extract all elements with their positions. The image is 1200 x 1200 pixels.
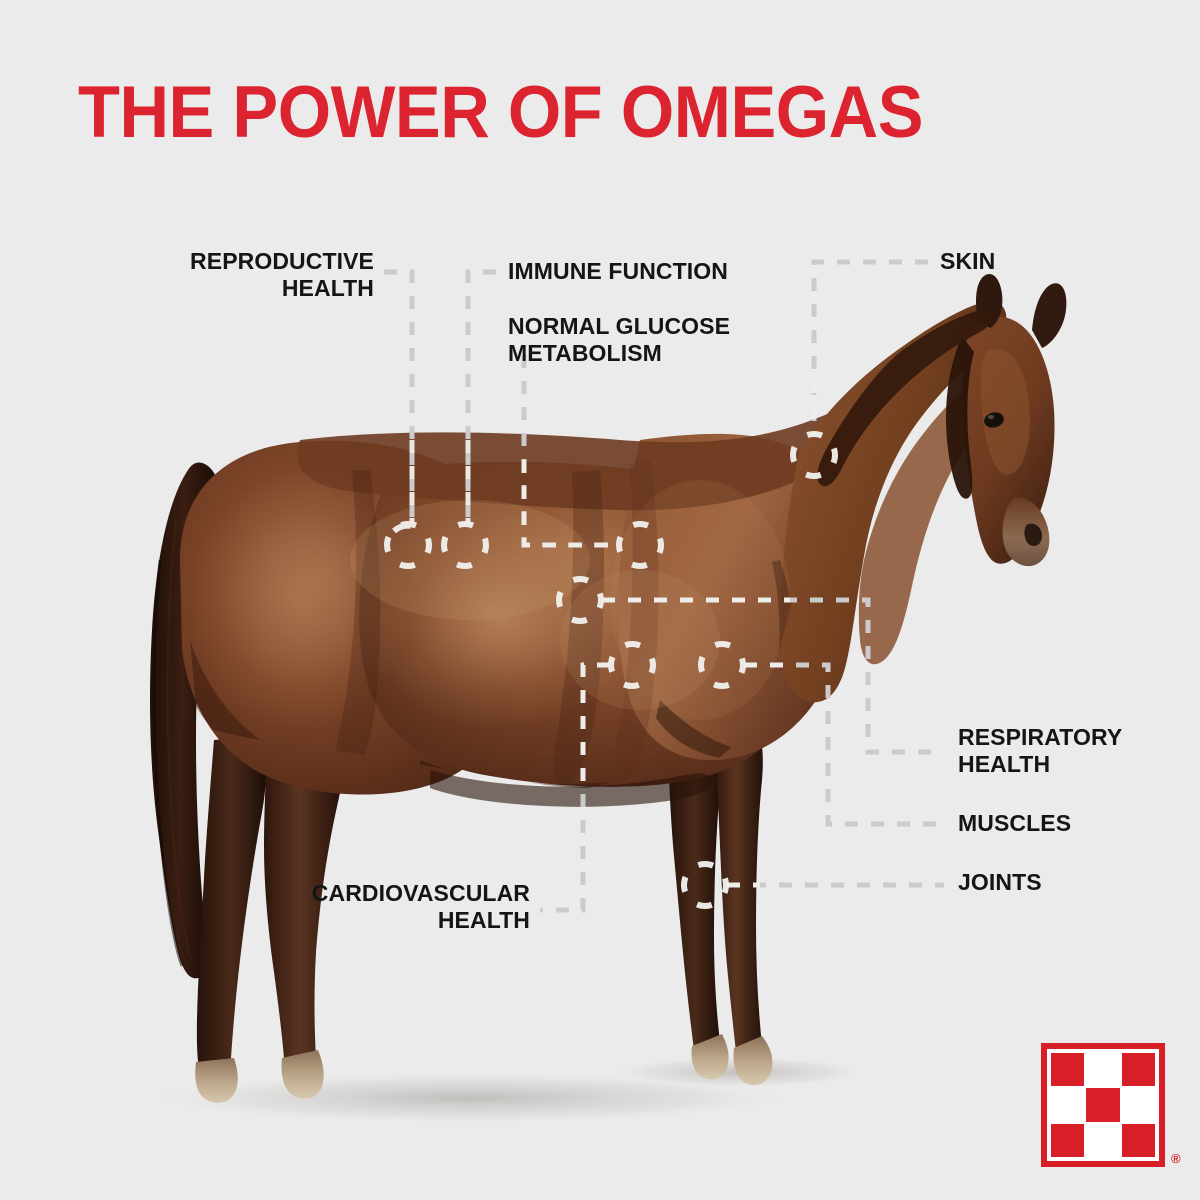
label-cardiovascular-health: CARDIOVASCULAR HEALTH: [286, 880, 530, 934]
logo-square: [1086, 1124, 1119, 1157]
connector-reproductive: [384, 272, 412, 524]
logo-square: [1122, 1088, 1155, 1121]
label-joints: JOINTS: [958, 869, 1178, 896]
logo-checkerboard: [1051, 1053, 1155, 1157]
markers: [387, 434, 835, 906]
connector-muscles: [744, 665, 944, 824]
label-respiratory-health: RESPIRATORY HEALTH: [958, 724, 1178, 778]
marker-glucose: [619, 524, 661, 566]
connector-glucose: [524, 355, 618, 545]
marker-skin: [793, 434, 835, 476]
logo-square: [1051, 1088, 1084, 1121]
connector-cardiovascular: [540, 665, 610, 910]
marker-immune: [444, 524, 486, 566]
label-skin: SKIN: [940, 248, 1100, 275]
label-reproductive-health: REPRODUCTIVE HEALTH: [168, 248, 374, 302]
marker-joints: [684, 864, 726, 906]
label-normal-glucose-metabolism: NORMAL GLUCOSE METABOLISM: [508, 313, 808, 367]
marker-muscles: [701, 644, 743, 686]
label-muscles: MUSCLES: [958, 810, 1178, 837]
omega-infographic-poster: THE POWER OF OMEGAS: [0, 0, 1200, 1200]
logo-square: [1051, 1124, 1084, 1157]
connector-skin: [814, 262, 928, 434]
purina-checkerboard-logo: [1041, 1043, 1165, 1167]
marker-cardiovascular: [611, 644, 653, 686]
registered-trademark-mark: ®: [1171, 1152, 1181, 1165]
logo-square: [1086, 1053, 1119, 1086]
marker-respiratory: [559, 579, 601, 621]
marker-reproductive: [387, 524, 429, 566]
logo-square: [1051, 1053, 1084, 1086]
label-immune-function: IMMUNE FUNCTION: [508, 258, 808, 285]
logo-square: [1086, 1088, 1119, 1121]
logo-square: [1122, 1124, 1155, 1157]
connector-immune: [468, 272, 496, 524]
connector-overlay: [0, 0, 1200, 1200]
logo-square: [1122, 1053, 1155, 1086]
connector-respiratory: [602, 600, 944, 752]
